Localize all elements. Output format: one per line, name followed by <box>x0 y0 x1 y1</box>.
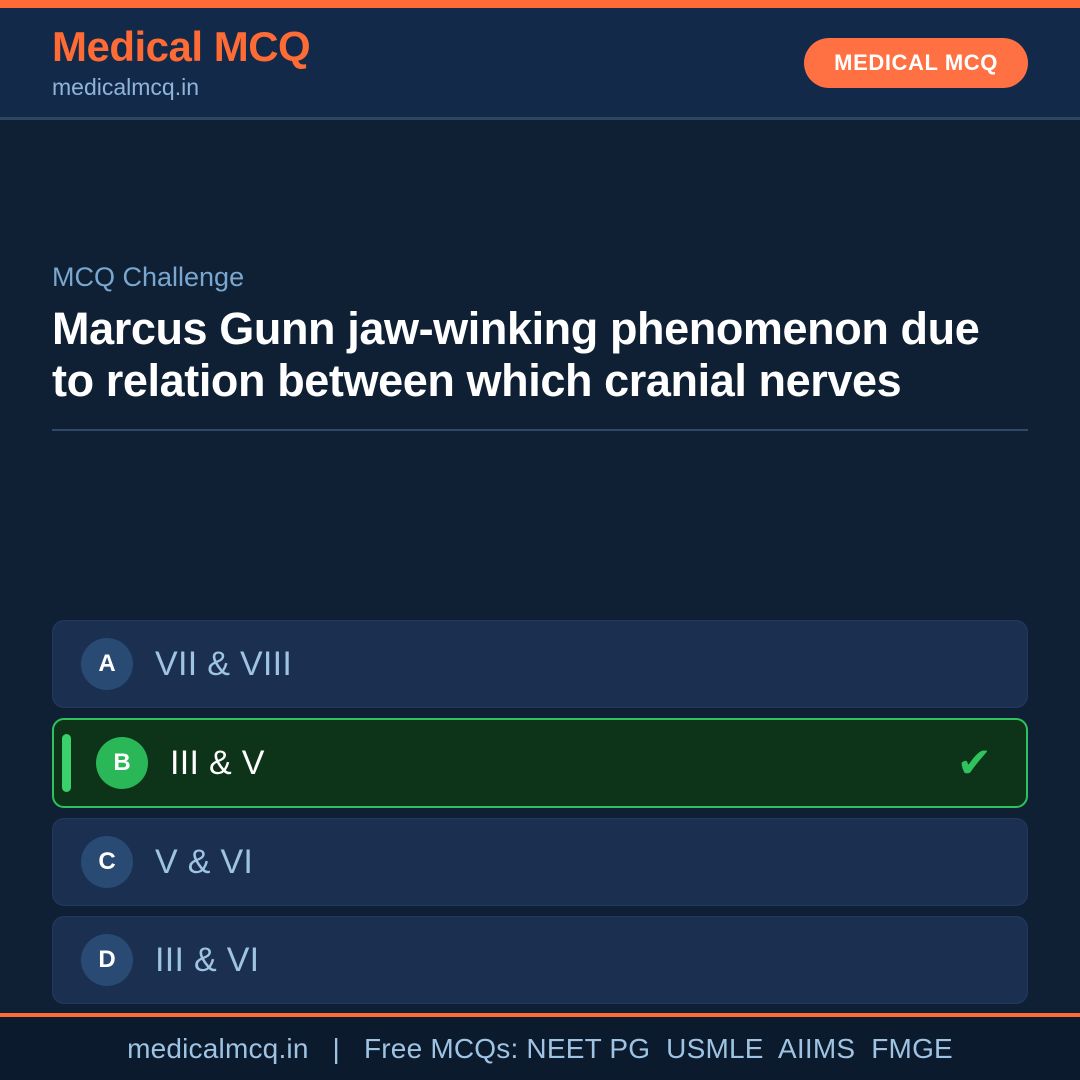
option-text-d: III & VI <box>155 943 259 977</box>
option-row-a[interactable]: A VII & VIII <box>52 620 1028 708</box>
option-letter-badge-a: A <box>81 638 133 690</box>
page-footer: medicalmcq.in | Free MCQs: NEET PG USMLE… <box>0 1013 1080 1080</box>
option-text-a: VII & VIII <box>155 647 292 681</box>
option-letter-badge-b: B <box>96 737 148 789</box>
check-icon: ✔ <box>957 742 998 784</box>
brand-title: Medical MCQ <box>52 25 310 69</box>
section-eyebrow-label: MCQ Challenge <box>52 263 1028 293</box>
options-list: A VII & VIII B III & V ✔ C V & VI D III … <box>52 620 1028 1004</box>
question-text: Marcus Gunn jaw-winking phenomenon due t… <box>52 303 1028 407</box>
question-block: MCQ Challenge Marcus Gunn jaw-winking ph… <box>52 263 1028 431</box>
question-divider <box>52 429 1028 431</box>
option-text-b: III & V <box>170 746 265 780</box>
correct-accent-bar <box>62 734 71 792</box>
option-letter-badge-c: C <box>81 836 133 888</box>
option-text-c: V & VI <box>155 845 253 879</box>
brand-subtitle: medicalmcq.in <box>52 75 310 100</box>
option-letter-badge-d: D <box>81 934 133 986</box>
mcq-card-page: Medical MCQ medicalmcq.in MEDICAL MCQ MC… <box>0 0 1080 1080</box>
top-accent-stripe <box>0 0 1080 8</box>
option-row-b[interactable]: B III & V ✔ <box>52 718 1028 808</box>
header-badge: MEDICAL MCQ <box>804 38 1028 88</box>
option-row-d[interactable]: D III & VI <box>52 916 1028 1004</box>
footer-text: medicalmcq.in | Free MCQs: NEET PG USMLE… <box>127 1033 953 1065</box>
main-content: MCQ Challenge Marcus Gunn jaw-winking ph… <box>0 120 1080 1013</box>
page-header: Medical MCQ medicalmcq.in MEDICAL MCQ <box>0 8 1080 120</box>
brand-block: Medical MCQ medicalmcq.in <box>52 25 310 100</box>
option-row-c[interactable]: C V & VI <box>52 818 1028 906</box>
